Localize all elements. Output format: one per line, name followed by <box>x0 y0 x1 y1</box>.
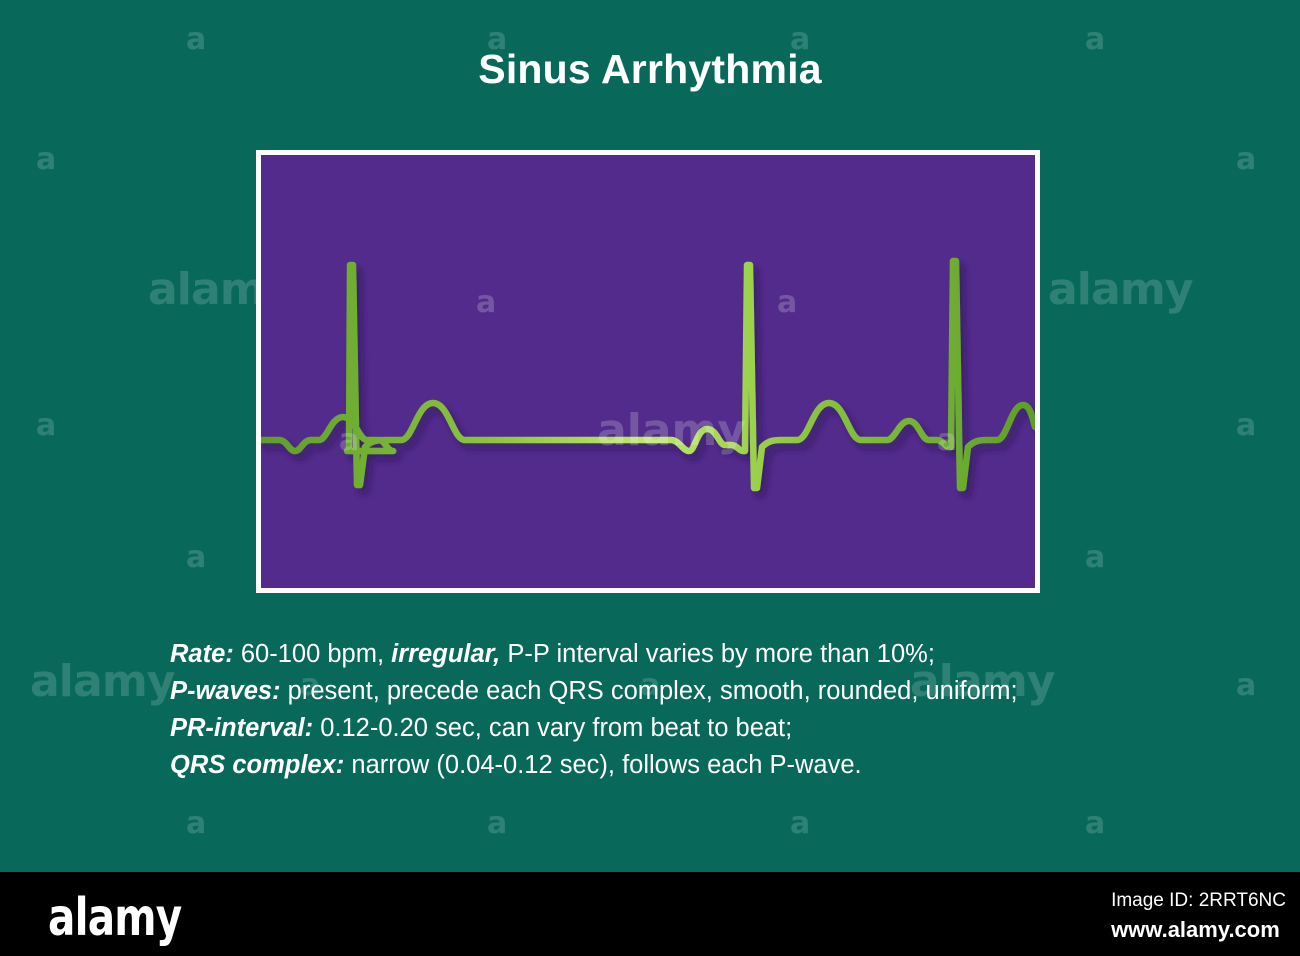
alamy-letter-watermark: a <box>36 142 56 177</box>
caption-text-qrs: narrow (0.04-0.12 sec), follows each P-w… <box>344 751 861 779</box>
caption-line-rate: Rate: 60-100 bpm, irregular, P-P interva… <box>170 636 1180 673</box>
ecg-strip-panel: a a a a alamy <box>256 150 1040 593</box>
ecg-trace-path <box>261 261 1035 488</box>
caption-line-pr-interval: PR-interval: 0.12-0.20 sec, can vary fro… <box>170 710 1180 747</box>
alamy-letter-watermark: a <box>1236 408 1256 443</box>
caption-text-rate-before: 60-100 bpm, <box>234 640 391 668</box>
alamy-letter-watermark: a <box>1236 142 1256 177</box>
alamy-letter-watermark: a <box>1236 668 1256 703</box>
alamy-word-watermark: alamy <box>30 656 175 707</box>
alamy-letter-watermark: a <box>186 806 206 841</box>
caption-text-pr-interval: 0.12-0.20 sec, can vary from beat to bea… <box>313 714 792 742</box>
caption-label-pr-interval: PR-interval: <box>170 714 313 742</box>
caption-emphasis-irregular: irregular, <box>391 640 500 668</box>
stock-footer-bar: alamy Image ID: 2RRT6NC www.alamy.com <box>0 872 1300 956</box>
alamy-logo: alamy <box>48 888 181 948</box>
caption-text-rate-after: P-P interval varies by more than 10%; <box>500 640 935 668</box>
alamy-letter-watermark: a <box>1085 806 1105 841</box>
alamy-letter-watermark: a <box>790 806 810 841</box>
page-title: Sinus Arrhythmia <box>0 46 1300 93</box>
caption-label-qrs: QRS complex: <box>170 751 344 779</box>
footer-meta: Image ID: 2RRT6NC www.alamy.com <box>1111 890 1286 943</box>
alamy-letter-watermark: a <box>186 540 206 575</box>
alamy-letter-watermark: a <box>487 806 507 841</box>
caption-text-pwaves: present, precede each QRS complex, smoot… <box>281 677 1018 705</box>
caption-line-qrs: QRS complex: narrow (0.04-0.12 sec), fol… <box>170 747 1180 784</box>
ecg-plot-surface: a a a a alamy <box>261 155 1035 588</box>
caption-line-pwaves: P-waves: present, precede each QRS compl… <box>170 673 1180 710</box>
ecg-criteria-caption: Rate: 60-100 bpm, irregular, P-P interva… <box>170 636 1180 784</box>
caption-label-rate: Rate: <box>170 640 234 668</box>
alamy-url-label: www.alamy.com <box>1111 917 1286 943</box>
alamy-letter-watermark: a <box>36 408 56 443</box>
image-id-label: Image ID: 2RRT6NC <box>1111 890 1286 912</box>
illustration-page: a a a a a a a a a alamy a a alamy a a a … <box>0 0 1300 956</box>
alamy-word-watermark: alamy <box>1048 264 1193 315</box>
caption-label-pwaves: P-waves: <box>170 677 281 705</box>
ecg-waveform <box>261 155 1035 588</box>
alamy-letter-watermark: a <box>1085 540 1105 575</box>
